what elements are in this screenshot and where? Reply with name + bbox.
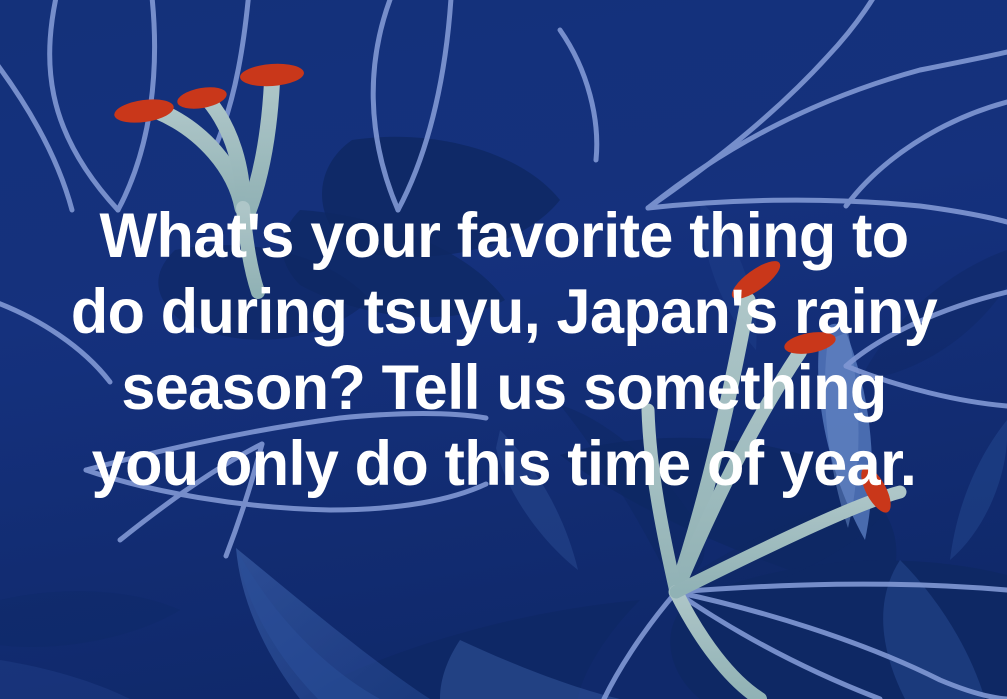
vignette xyxy=(0,0,1007,699)
lily-pattern-artwork xyxy=(0,0,1007,699)
prompt-card: What's your favorite thing to do during … xyxy=(0,0,1007,699)
